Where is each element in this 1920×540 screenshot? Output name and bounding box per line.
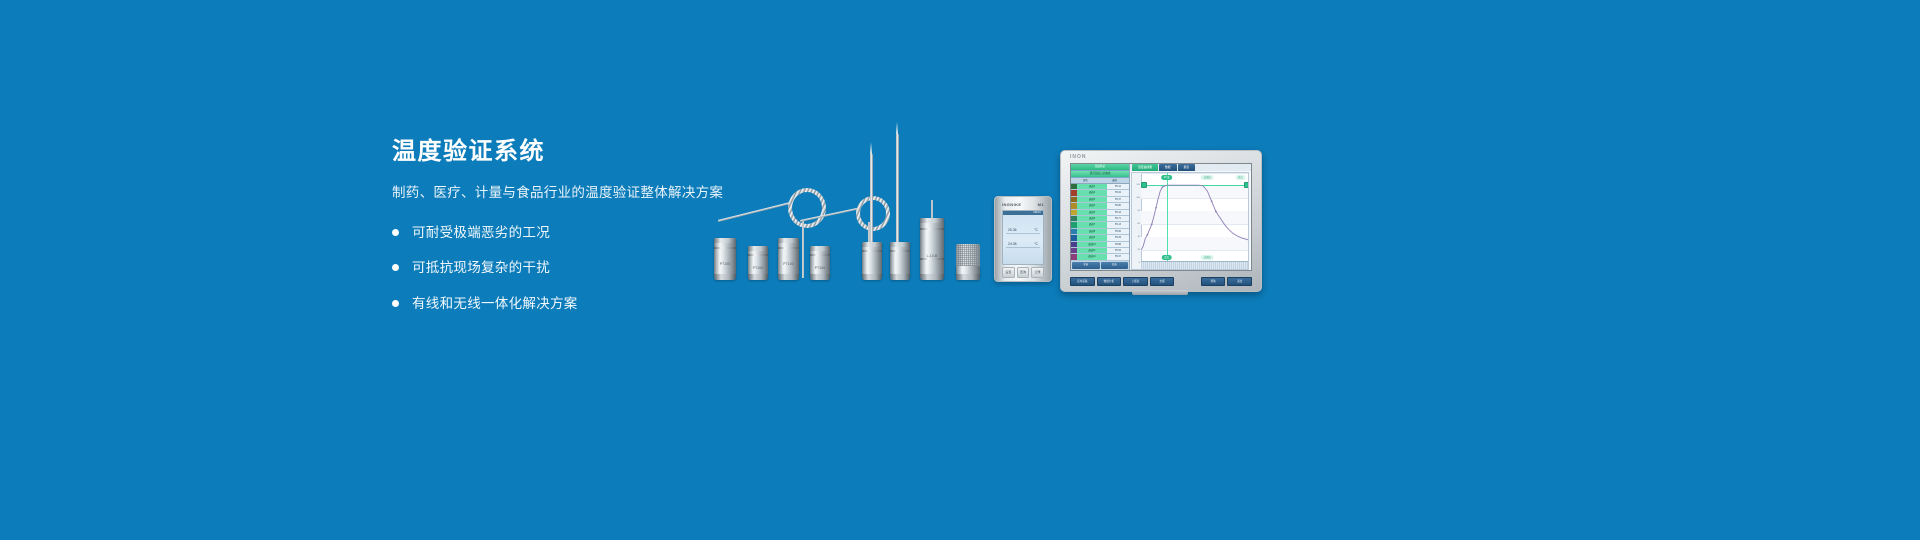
logger-ring	[862, 250, 882, 252]
logger-ring	[748, 254, 768, 256]
logger-cap	[714, 238, 736, 243]
chart-data-point	[1162, 186, 1164, 188]
probe-stem	[718, 201, 794, 222]
data-logger-4: PT100	[810, 246, 830, 280]
channel-name-cell: 通道8	[1077, 229, 1107, 234]
logger-base	[778, 274, 799, 280]
channel-value-cell: 55.62	[1107, 190, 1129, 195]
channel-name-cell: 通道5	[1077, 210, 1107, 215]
logger-base	[714, 274, 736, 280]
logger-cap	[810, 246, 830, 251]
handheld-key-query[interactable]: 查询	[1017, 267, 1030, 278]
channel-panel-footer: 全选 反选	[1071, 261, 1129, 270]
chart-y-tick-label: 120	[1136, 184, 1140, 186]
logger-cap	[862, 242, 882, 247]
channel-name-cell: 通道7	[1077, 222, 1107, 227]
chart-y-tick-label: 40	[1138, 236, 1140, 238]
data-logger-squat	[956, 266, 980, 280]
chart-y-tick-label: 60	[1138, 223, 1140, 225]
toolbar-button[interactable]: 数据分析	[1097, 277, 1122, 286]
logger-ring	[778, 247, 799, 249]
toolbar-button[interactable]: 退出	[1227, 277, 1252, 286]
logger-label: L-10-B	[920, 254, 944, 258]
channel-value-cell: 55.13	[1107, 222, 1129, 227]
channel-name-cell: 通道12	[1077, 254, 1107, 259]
invert-selection-button[interactable]: 反选	[1101, 262, 1129, 269]
logger-ring	[810, 254, 830, 256]
logger-label: PT100	[778, 262, 799, 266]
channel-name-cell: 通道4	[1077, 203, 1107, 208]
needle-probe-1	[870, 154, 873, 250]
logger-label: PT100	[714, 262, 736, 266]
handheld-screen: MENU 25.36 °C 24.08 °C	[1002, 210, 1044, 265]
monitor-stand	[1132, 290, 1188, 295]
channel-name-cell: 通道1	[1077, 184, 1107, 189]
product-photo-group: PT100 PT100 PT100 PT100	[700, 120, 1220, 310]
chart-y-tick-label: 80	[1138, 210, 1140, 212]
data-logger-6	[890, 242, 910, 280]
feature-text: 有线和无线一体化解决方案	[412, 297, 578, 311]
channel-table-body[interactable]: 通道155.41通道255.62通道355.37通道455.80通道555.44…	[1071, 184, 1129, 261]
data-logger-tall: L-10-B	[920, 218, 944, 280]
toolbar-button[interactable]: 去报	[1150, 277, 1175, 286]
col-color: 颜色	[1071, 178, 1100, 183]
logger-base	[810, 274, 830, 280]
chart-plot-area: F0 值起点灭菌段终点灭菌段	[1141, 173, 1248, 263]
logger-base	[748, 274, 768, 280]
logger-base	[920, 274, 944, 280]
toolbar-button[interactable]: 实时采集	[1070, 277, 1095, 286]
channel-name-cell: 通道9	[1077, 235, 1107, 240]
toolbar-spacer	[1176, 278, 1199, 285]
tab-data[interactable]: 数据	[1159, 164, 1177, 171]
software-bottom-toolbar: 实时采集数据分析上报表去报帮助退出	[1070, 277, 1252, 286]
channel-value-cell: 55.41	[1107, 184, 1129, 189]
data-logger-5	[862, 242, 882, 280]
channel-value-cell: 55.71	[1107, 216, 1129, 221]
software-tabs: 温度曲线图 数据 报表	[1130, 164, 1251, 171]
handheld-branding: INGNIKE M1	[1002, 202, 1044, 207]
feature-text: 可抵抗现场复杂的干扰	[412, 261, 550, 275]
handheld-brand-text: INGNIKE	[1002, 202, 1021, 207]
channel-value-cell: 55.37	[1107, 197, 1129, 202]
handheld-reading-unit: °C	[1034, 241, 1038, 247]
bullet-dot-icon	[392, 300, 399, 307]
chart-data-point	[1155, 206, 1157, 208]
logger-cap	[778, 238, 799, 243]
probe-coil	[788, 188, 826, 228]
logger-label: PT100	[748, 266, 768, 270]
channel-value-cell: 55.80	[1107, 203, 1129, 208]
probe-lead	[802, 220, 804, 278]
handheld-screen-titlebar: MENU	[1003, 211, 1043, 215]
chart-y-tick-label: 100	[1136, 197, 1140, 199]
panel-header: 温度验证	[1071, 164, 1129, 171]
tab-report[interactable]: 报表	[1178, 164, 1196, 171]
chart-data-point	[1147, 233, 1149, 235]
chart-line-series	[1141, 185, 1248, 250]
chart-data-point	[1151, 223, 1153, 225]
temperature-chart: 140120100806040200 F0 值起点灭菌段终点灭菌段	[1131, 172, 1249, 271]
channel-value-cell: 55.44	[1107, 210, 1129, 215]
channel-value-cell: 55.88	[1107, 242, 1129, 247]
validation-monitor: INON 温度验证 通道温度记录曲线 颜色 通道 通道155.41通道255.6…	[1060, 150, 1262, 292]
chart-y-tick-label: 20	[1138, 249, 1140, 251]
handheld-model-text: M1	[1038, 202, 1044, 207]
software-chart-panel: 温度曲线图 数据 报表 140120100806040200 F0 值起点灭菌段…	[1130, 164, 1251, 270]
software-channel-panel: 温度验证 通道温度记录曲线 颜色 通道 通道155.41通道255.62通道35…	[1071, 164, 1130, 270]
monitor-brand: INON	[1070, 154, 1087, 160]
chart-data-point	[1211, 200, 1213, 202]
chart-data-point	[1215, 210, 1217, 212]
bullet-dot-icon	[392, 264, 399, 271]
handheld-keypad: 设置 查询 记录	[1002, 267, 1044, 278]
logger-cap	[920, 218, 944, 223]
handheld-reading-row: 25.36 °C	[1006, 227, 1040, 234]
select-all-button[interactable]: 全选	[1072, 262, 1100, 269]
channel-name-cell: 通道11	[1077, 248, 1107, 253]
handheld-reading-row: 24.08 °C	[1006, 241, 1040, 248]
logger-cap	[890, 242, 910, 247]
handheld-key-settings[interactable]: 设置	[1002, 267, 1015, 278]
tab-temperature-curve[interactable]: 温度曲线图	[1132, 164, 1158, 171]
channel-name-cell: 通道10	[1077, 242, 1107, 247]
col-channel: 通道	[1100, 178, 1129, 183]
channel-name-cell: 通道6	[1077, 216, 1107, 221]
chart-y-tick-label: 0	[1139, 262, 1140, 264]
logger-base	[956, 274, 980, 280]
logger-antenna	[931, 200, 933, 218]
bullet-dot-icon	[392, 229, 399, 236]
chart-x-axis-scrollbar[interactable]	[1141, 261, 1248, 269]
probe-coil	[856, 196, 890, 231]
monitor-screen: 温度验证 通道温度记录曲线 颜色 通道 通道155.41通道255.62通道35…	[1070, 163, 1252, 271]
logger-ring	[714, 247, 736, 249]
panel-subheader: 通道温度记录曲线	[1071, 171, 1129, 178]
handheld-key-record[interactable]: 记录	[1031, 267, 1044, 278]
handheld-reading-value: 24.08	[1008, 241, 1017, 247]
handheld-reading-unit: °C	[1034, 227, 1038, 233]
channel-value-cell: 55.07	[1107, 254, 1129, 259]
feature-text: 可耐受极端恶劣的工况	[412, 226, 550, 240]
logger-base	[862, 274, 882, 280]
channel-value-cell: 55.66	[1107, 229, 1129, 234]
logger-base	[890, 274, 910, 280]
toolbar-button[interactable]: 上报表	[1123, 277, 1148, 286]
needle-probe-2	[896, 134, 899, 250]
channel-value-cell: 55.52	[1107, 248, 1129, 253]
data-logger-1: PT100	[714, 238, 736, 280]
handheld-reader: INGNIKE M1 MENU 25.36 °C 24.08 °C 设置 查询	[994, 196, 1052, 282]
handheld-reading-value: 25.36	[1008, 227, 1017, 233]
data-logger-2: PT100	[748, 246, 768, 280]
handheld-screen-title: MENU	[1033, 211, 1041, 215]
logger-label: PT100	[810, 266, 830, 270]
toolbar-button[interactable]: 帮助	[1201, 277, 1226, 286]
logger-ring	[920, 228, 944, 230]
channel-name-cell: 通道2	[1077, 190, 1107, 195]
chart-y-tick-label: 140	[1136, 172, 1140, 174]
logger-ring	[920, 258, 944, 260]
channel-value-cell: 55.29	[1107, 235, 1129, 240]
data-logger-3: PT100	[778, 238, 799, 280]
channel-name-cell: 通道3	[1077, 197, 1107, 202]
logger-ring	[890, 250, 910, 252]
logger-cap	[748, 246, 768, 251]
hero-banner: 温度验证系统 制药、医疗、计量与食品行业的温度验证整体解决方案 可耐受极端恶劣的…	[0, 0, 1920, 540]
chart-series-svg	[1141, 173, 1248, 263]
